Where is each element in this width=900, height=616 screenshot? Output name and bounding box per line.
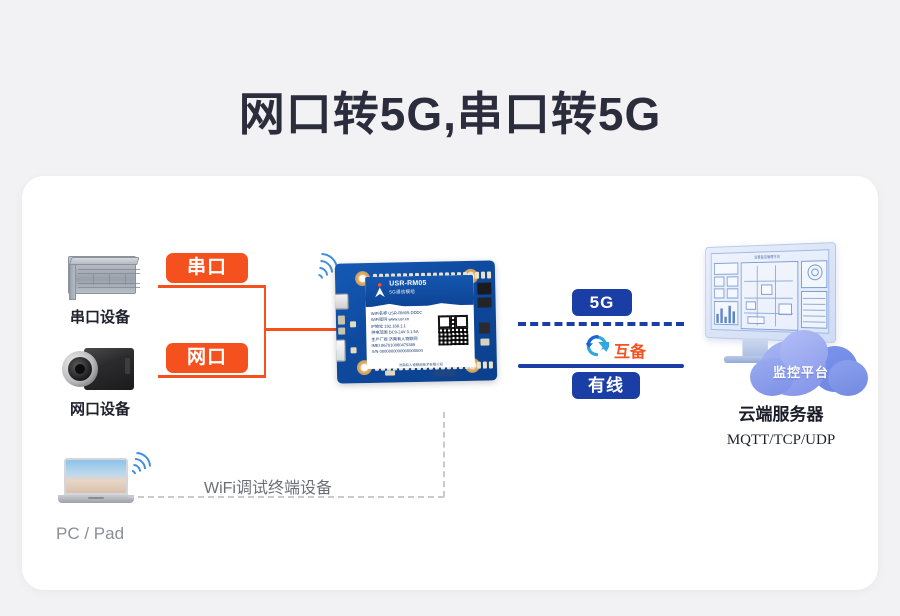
page-root: 网口转5G,串口转5G 串口设备 网口设备 — [0, 0, 900, 616]
serial-device-label: 串口设备 — [40, 306, 160, 327]
bracket-connector-line — [264, 328, 342, 331]
bracket-vertical-line — [264, 285, 267, 377]
wifi-debug-label: WiFi调试终端设备 — [204, 474, 332, 498]
usb-port — [335, 293, 349, 309]
board-info-lines: WiFi名称 USR-RM05-DDDC WiFi密码 www.usr.cn I… — [371, 310, 435, 356]
badge-serial-port[interactable]: 串口 — [166, 253, 248, 283]
cloud-icon: 监控平台 — [750, 330, 872, 398]
monitor-screen: 远程监控管理平台 — [711, 249, 829, 334]
cloud-server-title: 云端服务器 — [676, 400, 886, 425]
board-connector — [335, 339, 346, 361]
board-label-footer: 济南有人物联网技术有限公司 — [367, 361, 475, 368]
board-brand-sub: 5G通信模组 — [389, 289, 415, 296]
plc-icon — [62, 252, 138, 298]
usr-logo-icon — [373, 283, 386, 299]
bracket-top-line — [158, 285, 266, 288]
link-wired-line — [518, 364, 684, 368]
page-title: 网口转5G,串口转5G — [0, 78, 900, 144]
wifi-debug-dash-vertical — [443, 412, 445, 497]
board-brand: USR-RM05 — [389, 280, 427, 288]
badge-net-port[interactable]: 网口 — [166, 343, 248, 373]
monitor-screen-title: 远程监控管理平台 — [712, 252, 829, 260]
backup-label: 互备 — [614, 338, 646, 362]
pc-pad-label: PC / Pad — [56, 524, 124, 544]
wifi-signal-icon-laptop — [126, 452, 160, 486]
cloud-protocols: MQTT/TCP/UDP — [676, 432, 886, 449]
badge-5g[interactable]: 5G — [572, 289, 632, 316]
link-5g-line — [518, 322, 684, 326]
board-label: USR-RM05 5G通信模组 WiFi名称 USR-RM05-DDDC WiF… — [365, 275, 475, 369]
usr-rm05-board[interactable]: USR-RM05 5G通信模组 WiFi名称 USR-RM05-DDDC WiF… — [335, 260, 497, 383]
badge-wired[interactable]: 有线 — [572, 372, 640, 399]
cloud-platform-label: 监控平台 — [762, 362, 840, 381]
sync-refresh-icon — [585, 334, 609, 358]
camera-icon — [62, 345, 142, 393]
board-qr-code — [438, 315, 469, 346]
bracket-bottom-line — [158, 375, 266, 378]
net-device-label: 网口设备 — [40, 398, 160, 419]
